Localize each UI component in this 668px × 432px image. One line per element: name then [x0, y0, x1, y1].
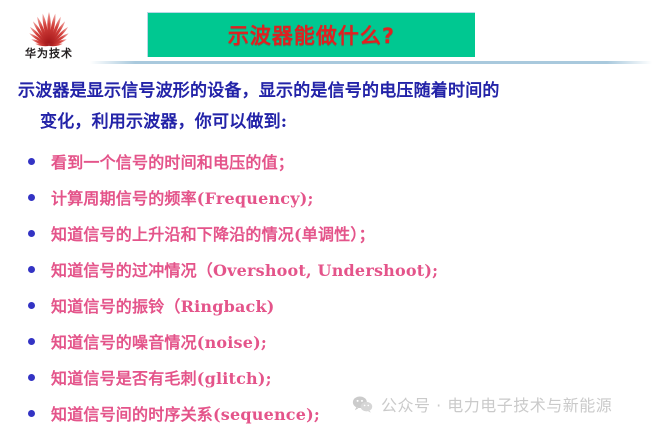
list-item-label: 知道信号的上升沿和下降沿的情况(单调性）； [51, 221, 375, 245]
list-item: 知道信号的振铃（Ringback) [22, 287, 652, 323]
list-item-label: 知道信号的噪音情况(noise); [51, 329, 267, 353]
list-item: 看到一个信号的时间和电压的值； [22, 143, 652, 179]
bullet-dot-icon [28, 230, 35, 237]
huawei-logo-label: 华为技术 [10, 47, 88, 61]
wechat-icon [352, 395, 373, 413]
bullet-dot-icon [28, 302, 35, 309]
bullet-dot-icon [28, 194, 35, 201]
huawei-fan-logo-icon [16, 11, 82, 47]
bullet-dot-icon [28, 338, 35, 345]
list-item-label: 看到一个信号的时间和电压的值； [51, 149, 294, 173]
list-item: 知道信号的上升沿和下降沿的情况(单调性）； [22, 215, 652, 251]
bullet-dot-icon [28, 410, 35, 417]
intro-paragraph: 示波器是显示信号波形的设备，显示的是信号的电压随着时间的 变化，利用示波器，你可… [18, 76, 638, 138]
header-divider [90, 61, 652, 64]
watermark: 公众号 · 电力电子技术与新能源 [352, 392, 612, 416]
capability-list: 看到一个信号的时间和电压的值； 计算周期信号的频率(Frequency); 知道… [22, 143, 652, 431]
bullet-dot-icon [28, 158, 35, 165]
list-item-label: 计算周期信号的频率(Frequency); [51, 185, 314, 209]
list-item-label: 知道信号间的时序关系(sequence); [51, 401, 320, 425]
list-item: 知道信号的噪音情况(noise); [22, 323, 652, 359]
list-item-label: 知道信号的过冲情况（Overshoot, Undershoot); [51, 257, 438, 281]
list-item: 知道信号是否有毛刺(glitch); [22, 359, 652, 395]
watermark-label: 公众号 · 电力电子技术与新能源 [381, 392, 612, 416]
list-item: 知道信号的过冲情况（Overshoot, Undershoot); [22, 251, 652, 287]
intro-line-1: 示波器是显示信号波形的设备，显示的是信号的电压随着时间的 [18, 81, 500, 101]
list-item-label: 知道信号是否有毛刺(glitch); [51, 365, 272, 389]
huawei-logo: 华为技术 [10, 9, 88, 67]
intro-line-2: 变化，利用示波器，你可以做到: [18, 107, 638, 138]
slide-canvas: 华为技术 示波器能做什么? 示波器是显示信号波形的设备，显示的是信号的电压随着时… [0, 0, 668, 432]
bullet-dot-icon [28, 374, 35, 381]
bullet-dot-icon [28, 266, 35, 273]
slide-title-banner: 示波器能做什么? [147, 12, 475, 57]
list-item-label: 知道信号的振铃（Ringback) [51, 293, 275, 317]
list-item: 计算周期信号的频率(Frequency); [22, 179, 652, 215]
page-title: 示波器能做什么? [228, 20, 395, 50]
